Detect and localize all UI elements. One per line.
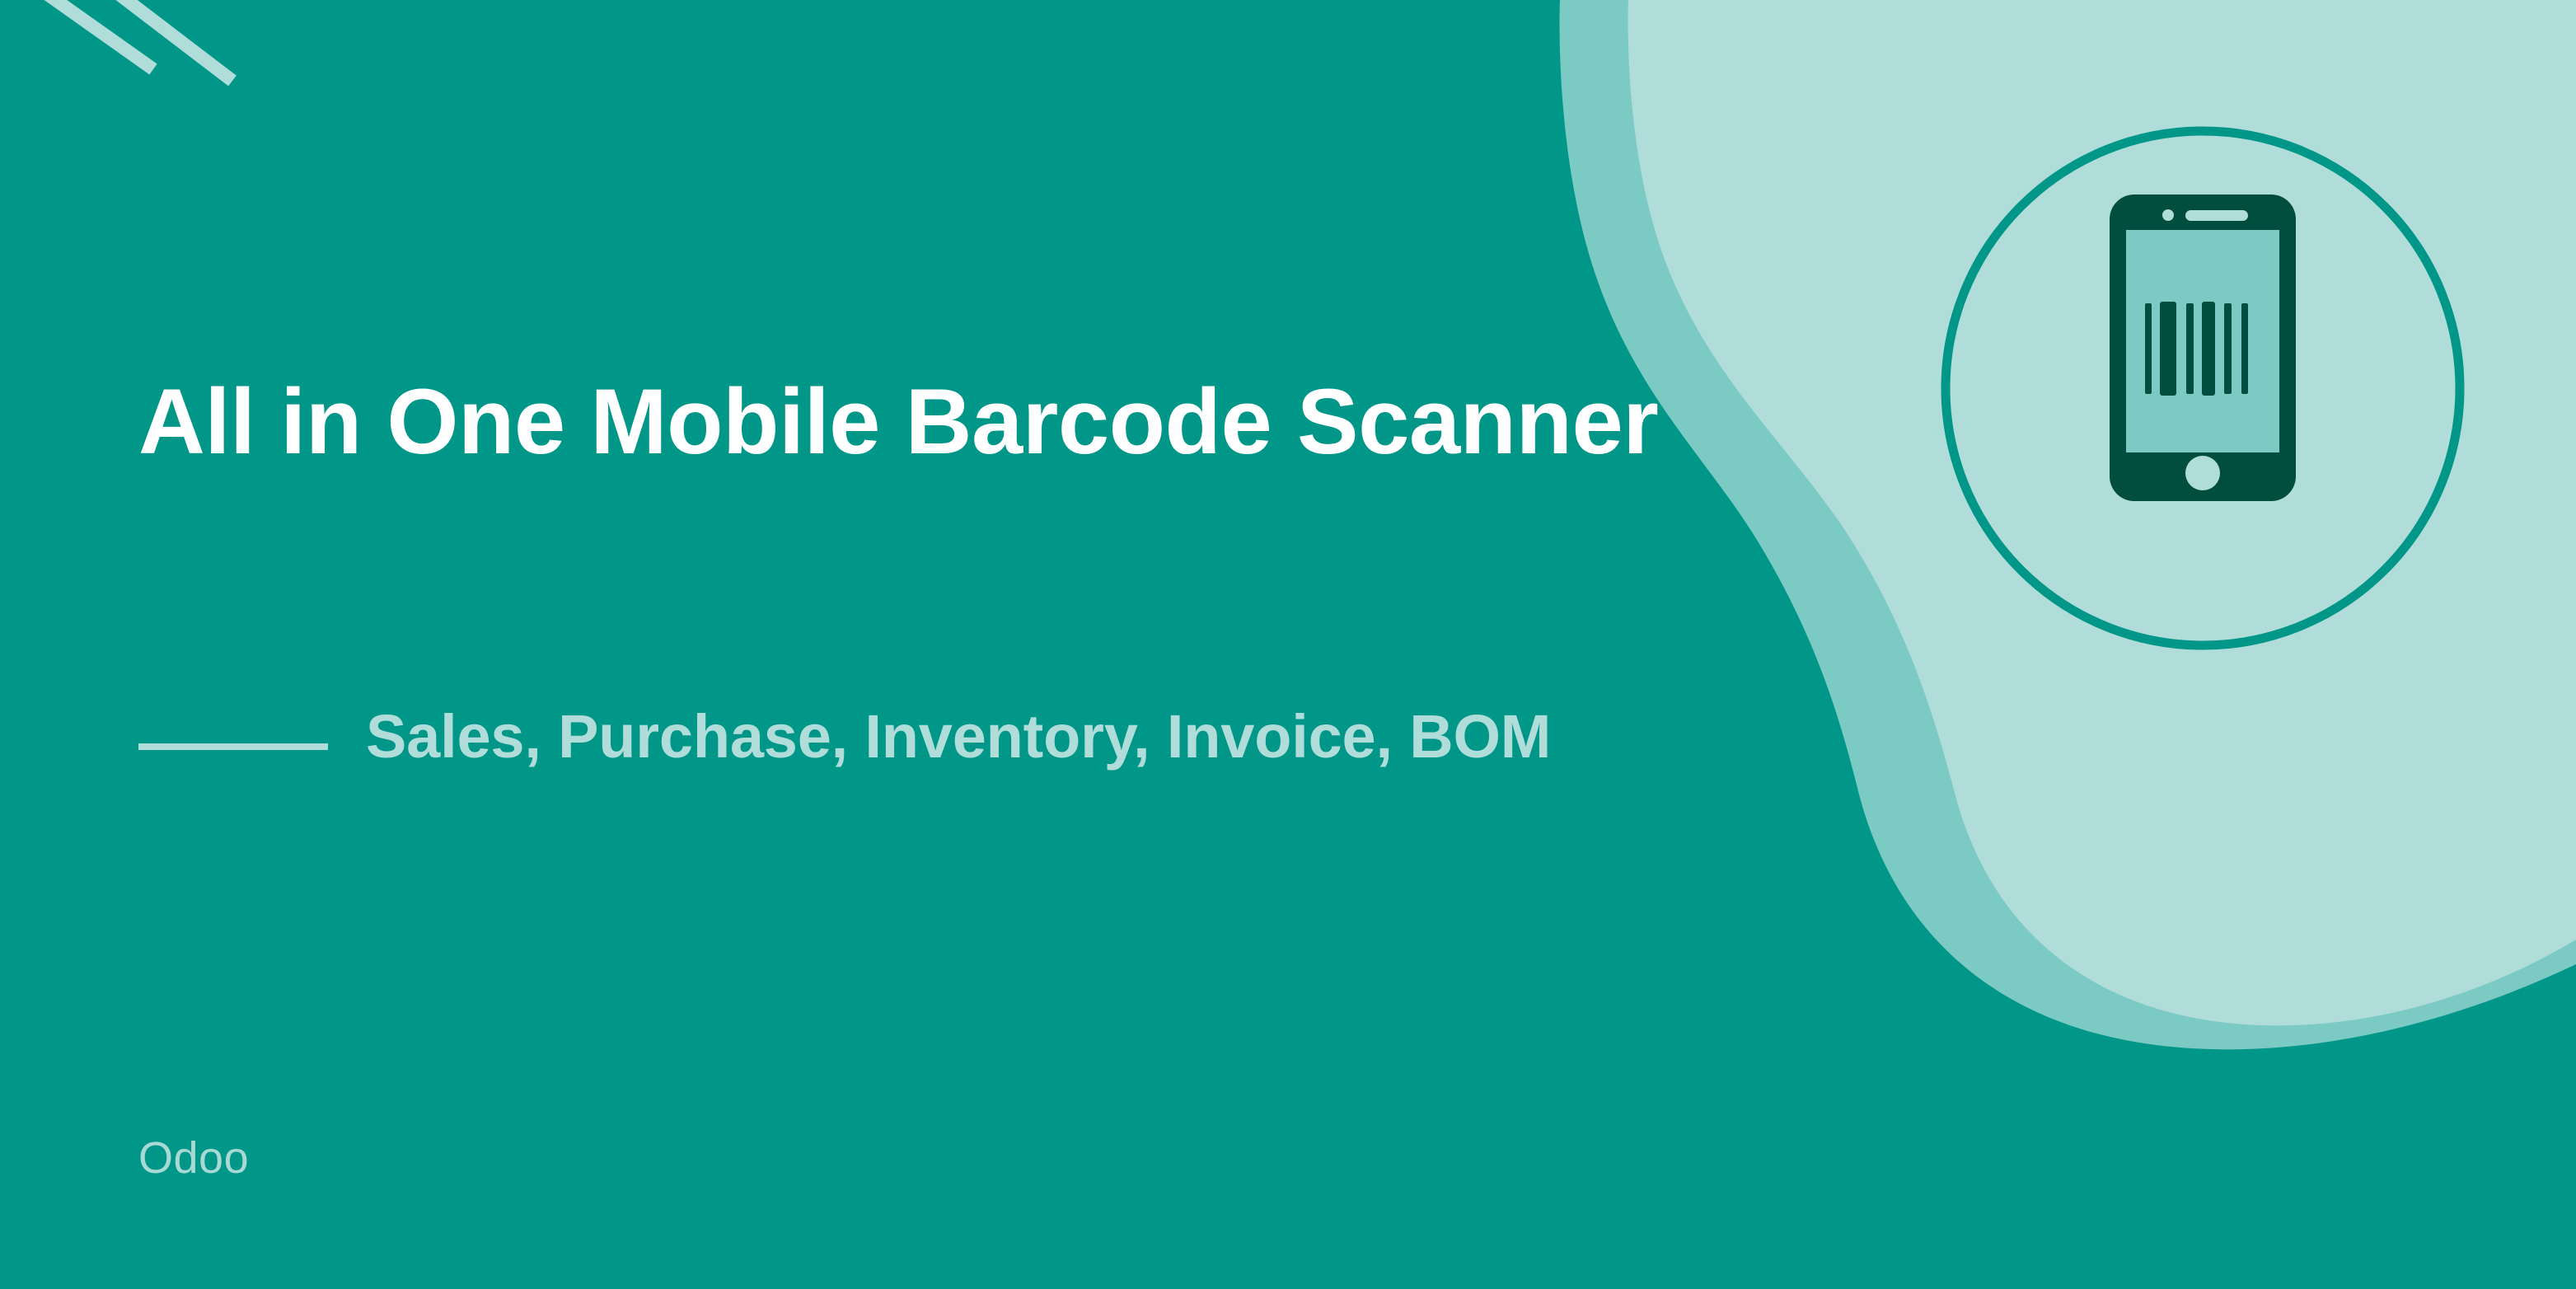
text-content-block: All in One Mobile Barcode Scanner Sales,…: [138, 0, 1787, 1289]
page-title: All in One Mobile Barcode Scanner: [138, 368, 1721, 476]
camera-dot-icon: [2162, 209, 2174, 221]
page-subtitle: Sales, Purchase, Inventory, Invoice, BOM: [366, 699, 1589, 774]
speaker-slot-icon: [2185, 210, 2248, 221]
subtitle-row: Sales, Purchase, Inventory, Invoice, BOM: [138, 699, 1589, 774]
slide-canvas: All in One Mobile Barcode Scanner Sales,…: [0, 0, 2576, 1289]
brand-label: Odoo: [138, 1132, 249, 1184]
subtitle-rule-divider: [138, 743, 328, 750]
home-button-icon: [2185, 456, 2220, 490]
barcode-scanner-badge: [1935, 120, 2471, 656]
